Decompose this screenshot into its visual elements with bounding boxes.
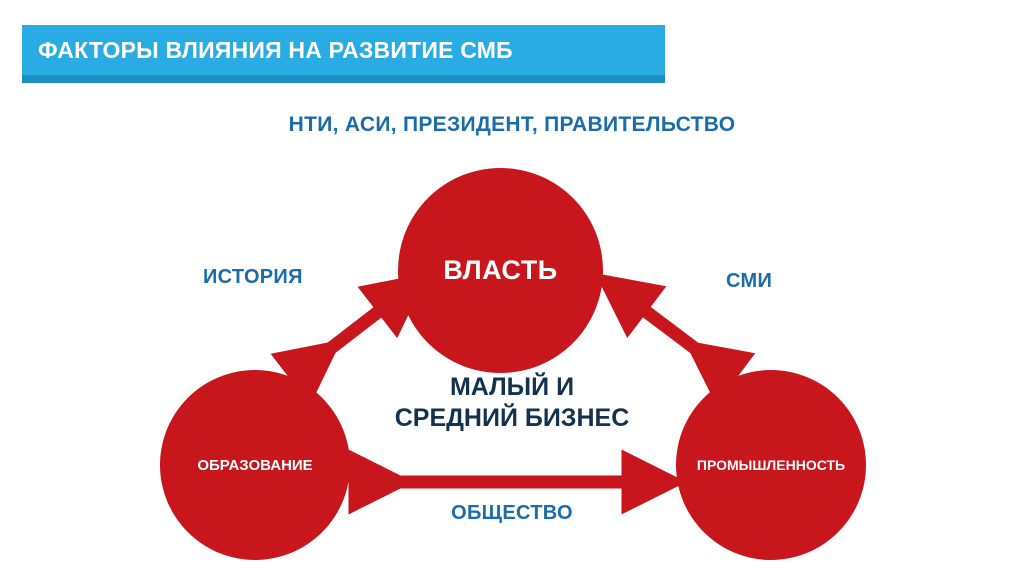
page-title: ФАКТОРЫ ВЛИЯНИЯ НА РАЗВИТИЕ СМБ: [38, 37, 513, 64]
arrow-power-industry: [624, 295, 713, 362]
center-label-line2: СРЕДНИЙ БИЗНЕС: [362, 403, 662, 434]
node-education-label: ОБРАЗОВАНИЕ: [197, 457, 312, 474]
caption-bottom: ОБЩЕСТВО: [362, 502, 662, 525]
diagram-page: ФАКТОРЫ ВЛИЯНИЯ НА РАЗВИТИЕ СМБ НТИ, АСИ…: [0, 0, 1024, 574]
caption-left: ИСТОРИЯ: [203, 266, 303, 289]
node-industry[interactable]: ПРОМЫШЛЕННОСТЬ: [676, 370, 866, 560]
title-banner-shadow: [22, 75, 665, 83]
caption-top: НТИ, АСИ, ПРЕЗИДЕНТ, ПРАВИТЕЛЬСТВО: [0, 113, 1024, 137]
node-power[interactable]: ВЛАСТЬ: [398, 168, 603, 373]
title-banner: ФАКТОРЫ ВЛИЯНИЯ НА РАЗВИТИЕ СМБ: [22, 25, 665, 75]
node-education[interactable]: ОБРАЗОВАНИЕ: [160, 370, 350, 560]
arrow-education-power: [313, 295, 400, 362]
node-power-label: ВЛАСТЬ: [443, 255, 557, 286]
center-label: МАЛЫЙ И СРЕДНИЙ БИЗНЕС: [362, 372, 662, 434]
caption-right: СМИ: [726, 270, 772, 293]
center-label-line1: МАЛЫЙ И: [362, 372, 662, 403]
node-industry-label: ПРОМЫШЛЕННОСТЬ: [697, 457, 845, 473]
